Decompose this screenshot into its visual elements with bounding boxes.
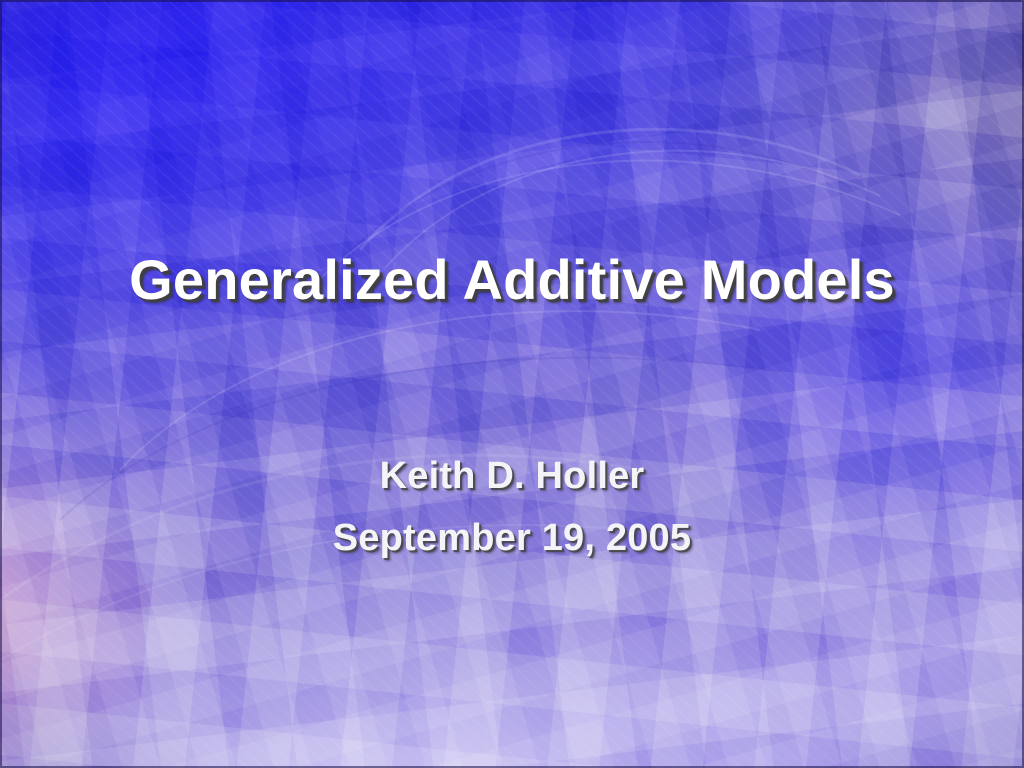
slide-title: Generalized Additive Models — [120, 248, 904, 313]
slide-subtitle: Keith D. Holler September 19, 2005 — [120, 446, 904, 569]
background-vignette-frame — [0, 0, 1024, 768]
slide-subtitle-author: Keith D. Holler — [120, 446, 904, 508]
background-swirl-arcs — [0, 0, 1024, 768]
background-blue-highlight-top-left — [0, 0, 1024, 768]
background-blue-highlight-right — [0, 0, 1024, 768]
background-mosaic-tiles-small — [0, 0, 1024, 768]
slide-subtitle-date: September 19, 2005 — [120, 508, 904, 570]
background-mosaic-tiles-large — [0, 0, 1024, 768]
background-light-wash-bottom — [0, 0, 1024, 768]
background-warm-haze — [0, 0, 1024, 768]
background-diagonal-streaks — [0, 0, 1024, 768]
slide-text-block: Generalized Additive Models Keith D. Hol… — [0, 0, 1024, 768]
presentation-slide: Generalized Additive Models Keith D. Hol… — [0, 0, 1024, 768]
background-base-gradient — [0, 0, 1024, 768]
background-mosaic-tiles-medium — [0, 0, 1024, 768]
background-pink-glow — [0, 0, 1024, 768]
